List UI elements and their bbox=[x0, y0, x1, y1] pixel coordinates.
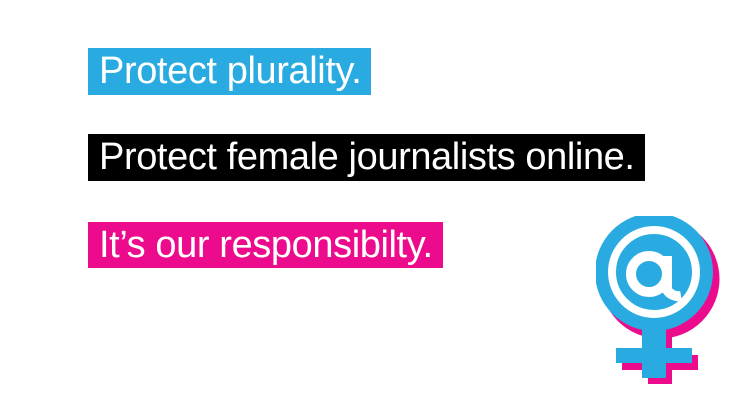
at-venus-symbol-logo bbox=[596, 216, 720, 384]
slogan-bar-plurality: Protect plurality. bbox=[88, 48, 371, 95]
slogan-bar-female-journalists: Protect female journalists online. bbox=[88, 134, 645, 181]
at-venus-symbol-icon bbox=[596, 216, 720, 384]
poster-canvas: Protect plurality. Protect female journa… bbox=[0, 0, 736, 420]
slogan-bar-responsibility: It’s our responsibilty. bbox=[88, 222, 443, 268]
logo-main-layer bbox=[596, 216, 713, 378]
